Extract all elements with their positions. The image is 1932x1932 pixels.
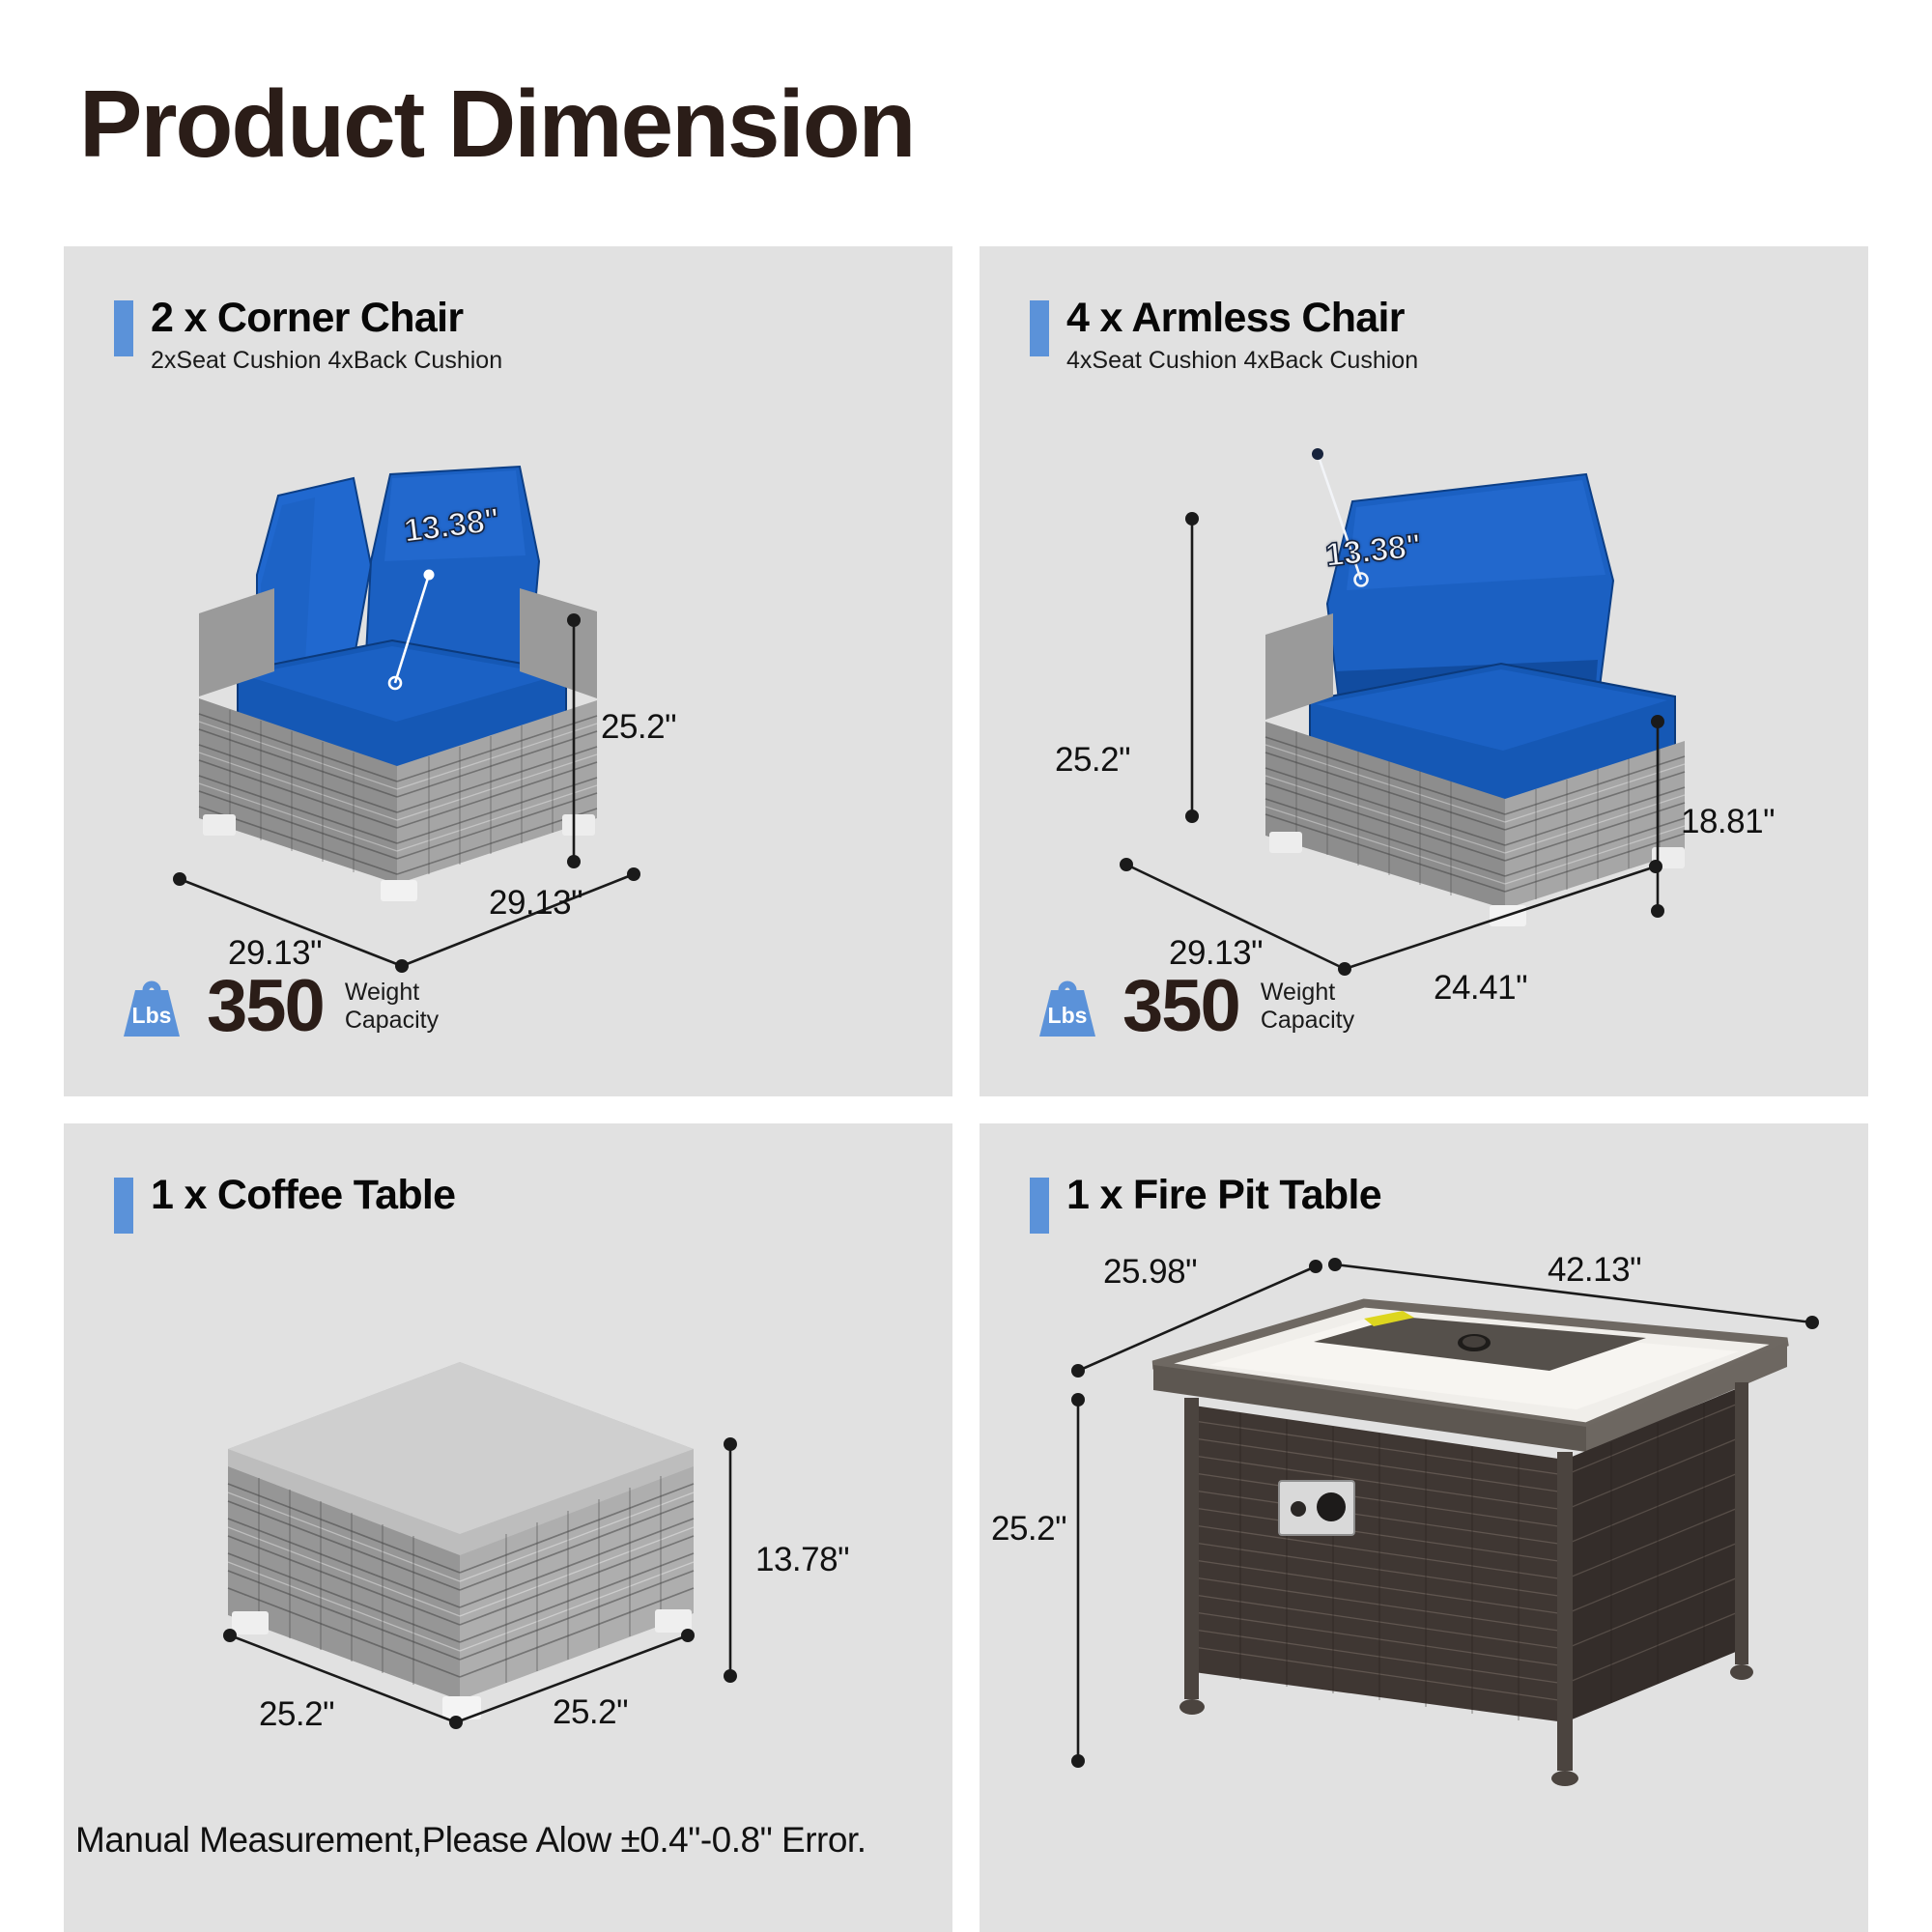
page-title: Product Dimension [79,70,914,179]
armless-chair-illustration [1182,382,1723,980]
card-header-armless-chair: 4 x Armless Chair 4xSeat Cushion 4xBack … [1030,297,1418,375]
dimension-height: 25.2" [991,1510,1066,1548]
svg-text:Lbs: Lbs [1048,1003,1088,1028]
coffee-table-illustration [160,1341,759,1795]
card-subtitle: 2xSeat Cushion 4xBack Cushion [151,347,502,375]
weight-value: 350 [1122,970,1239,1043]
card-header-fire-pit-table: 1 x Fire Pit Table [1030,1174,1381,1234]
dimension-width-top: 42.13" [1548,1251,1641,1290]
card-title: 2 x Corner Chair [151,297,502,340]
corner-chair-illustration [160,382,701,980]
card-coffee-table: 1 x Coffee Table [64,1123,952,1932]
card-subtitle: 4xSeat Cushion 4xBack Cushion [1066,347,1418,375]
card-corner-chair: 2 x Corner Chair 2xSeat Cushion 4xBack C… [64,246,952,1096]
weight-label-line2: Capacity [345,1007,439,1036]
weight-value: 350 [207,970,324,1043]
card-title: 1 x Coffee Table [151,1174,455,1217]
dimension-depth-left: 25.2" [259,1695,334,1734]
dimension-height: 13.78" [755,1541,849,1579]
weight-label-line1: Weight [345,979,439,1008]
weight-label-line2: Capacity [1261,1007,1354,1036]
card-grid: 2 x Corner Chair 2xSeat Cushion 4xBack C… [64,246,1868,1763]
dimension-height: 25.2" [1055,741,1130,780]
dimension-width-right: 29.13" [489,884,582,923]
dimension-seat-height: 18.81" [1681,803,1775,841]
dimension-width-right: 24.41" [1434,969,1527,1008]
svg-text:Lbs: Lbs [132,1003,172,1028]
card-fire-pit-table: 1 x Fire Pit Table [980,1123,1868,1932]
dimension-depth-left: 25.98" [1103,1253,1197,1292]
weight-lbs-icon: Lbs [114,969,189,1044]
card-armless-chair: 4 x Armless Chair 4xSeat Cushion 4xBack … [980,246,1868,1096]
product-dimension-infographic: Product Dimension 2 x Corner Chair 2xSea… [0,0,1932,1932]
dimension-height: 25.2" [601,708,676,747]
card-title: 4 x Armless Chair [1066,297,1418,340]
weight-lbs-icon: Lbs [1030,969,1105,1044]
measurement-disclaimer: Manual Measurement,Please Alow ±0.4"-0.8… [75,1820,866,1861]
dimension-width-right: 25.2" [553,1693,628,1732]
accent-bar-icon [114,1178,133,1234]
weight-label-line1: Weight [1261,979,1354,1008]
fire-pit-table-illustration [1124,1297,1820,1838]
card-title: 1 x Fire Pit Table [1066,1174,1381,1217]
accent-bar-icon [1030,300,1049,356]
weight-capacity-corner-chair: Lbs 350 Weight Capacity [114,969,439,1044]
weight-capacity-armless-chair: Lbs 350 Weight Capacity [1030,969,1354,1044]
card-header-corner-chair: 2 x Corner Chair 2xSeat Cushion 4xBack C… [114,297,502,375]
accent-bar-icon [114,300,133,356]
accent-bar-icon [1030,1178,1049,1234]
card-header-coffee-table: 1 x Coffee Table [114,1174,455,1234]
